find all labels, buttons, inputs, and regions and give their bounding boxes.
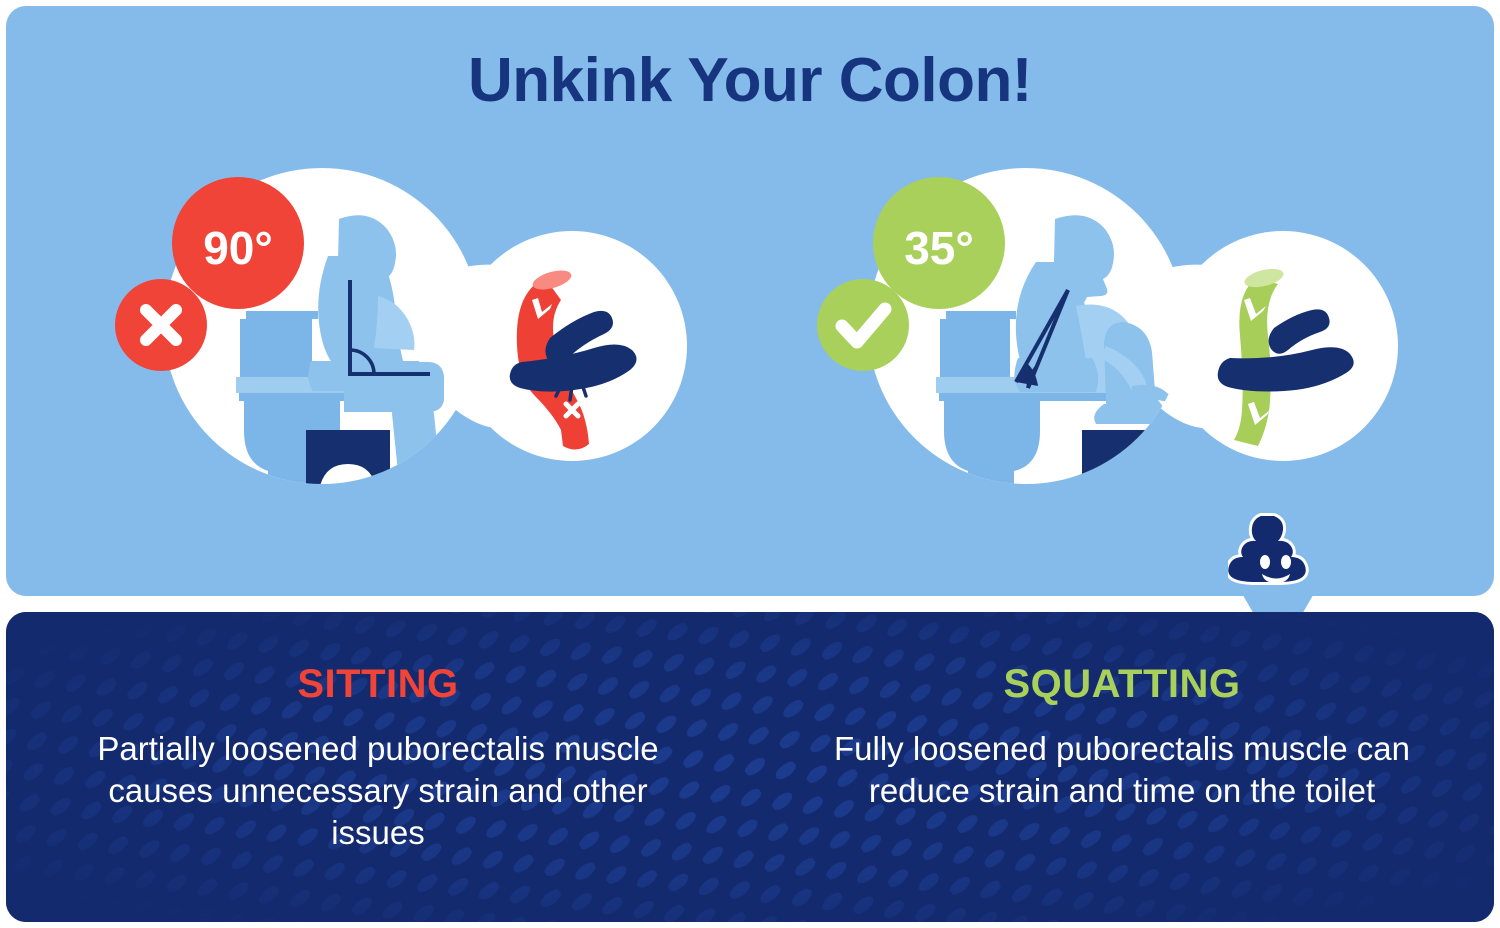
angle-badge-value-right: 35° — [904, 222, 974, 274]
left-angle-badge: 90° — [172, 177, 304, 309]
column-heading-sitting: SITTING — [297, 664, 458, 704]
right-angle-badge: 35° — [873, 177, 1005, 309]
column-heading-squatting: SQUATTING — [1003, 664, 1240, 704]
angle-badge-value-left: 90° — [203, 222, 273, 274]
column-sitting: SITTING Partially loosened puborectalis … — [6, 612, 750, 922]
right-status-badge — [817, 279, 909, 371]
posture-comparison-illustration: 90° — [6, 6, 1494, 596]
infographic-page: Unkink Your Colon! — [0, 0, 1500, 928]
column-body-squatting: Fully loosened puborectalis muscle can r… — [812, 728, 1432, 812]
column-body-sitting: Partially loosened puborectalis muscle c… — [68, 728, 688, 855]
left-status-badge — [115, 279, 207, 371]
column-squatting: SQUATTING Fully loosened puborectalis mu… — [750, 612, 1494, 922]
bottom-text-panel: SITTING Partially loosened puborectalis … — [6, 612, 1494, 922]
top-illustration-panel: Unkink Your Colon! — [6, 6, 1494, 596]
